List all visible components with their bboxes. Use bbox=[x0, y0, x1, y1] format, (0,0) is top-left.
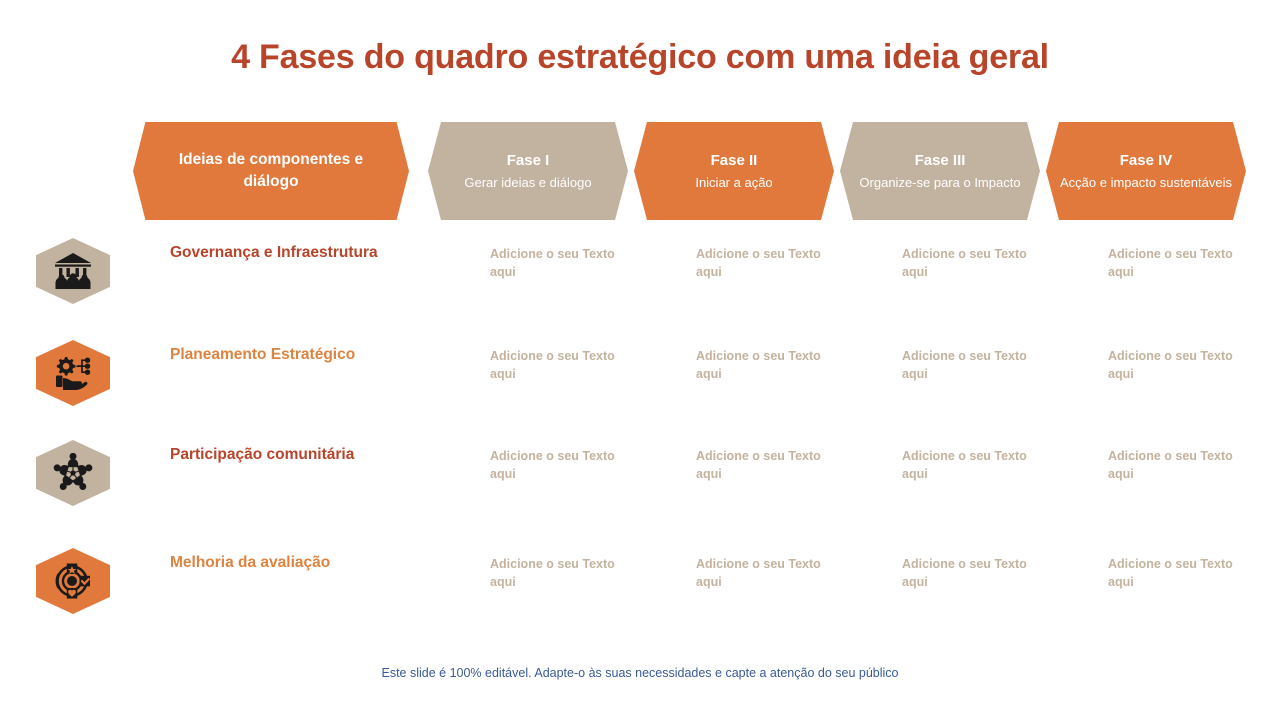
phase-banner-subtitle: Acção e impacto sustentáveis bbox=[1060, 174, 1232, 191]
row-label: Planeamento Estratégico bbox=[170, 343, 430, 367]
cell-placeholder[interactable]: Adicione o seu Texto aqui bbox=[490, 246, 620, 282]
phase-banner-1[interactable]: Fase IGerar ideias e diálogo bbox=[428, 122, 628, 220]
cell-placeholder[interactable]: Adicione o seu Texto aqui bbox=[696, 348, 826, 384]
phase-banner-subtitle: Organize-se para o Impacto bbox=[859, 174, 1020, 191]
cell-placeholder[interactable]: Adicione o seu Texto aqui bbox=[902, 246, 1032, 282]
phase-banner-subtitle: Iniciar a ação bbox=[695, 174, 772, 191]
cell-placeholder[interactable]: Adicione o seu Texto aqui bbox=[696, 556, 826, 592]
matrix-row: Planeamento EstratégicoAdicione o seu Te… bbox=[0, 340, 1280, 440]
evaluation-target-icon bbox=[36, 548, 110, 614]
phase-banner-lead[interactable]: Ideias de componentes e diálogo bbox=[133, 122, 409, 220]
cell-placeholder[interactable]: Adicione o seu Texto aqui bbox=[696, 246, 826, 282]
row-label: Melhoria da avaliação bbox=[170, 551, 430, 575]
cell-placeholder[interactable]: Adicione o seu Texto aqui bbox=[902, 556, 1032, 592]
matrix-row: Participação comunitáriaAdicione o seu T… bbox=[0, 440, 1280, 540]
row-label: Governança e Infraestrutura bbox=[170, 241, 430, 265]
community-people-circle-icon bbox=[36, 440, 110, 506]
cell-placeholder[interactable]: Adicione o seu Texto aqui bbox=[902, 448, 1032, 484]
cell-placeholder[interactable]: Adicione o seu Texto aqui bbox=[490, 348, 620, 384]
phase-banner-title: Fase IV bbox=[1120, 151, 1173, 171]
phase-banner-row: Ideias de componentes e diálogoFase IGer… bbox=[0, 122, 1280, 220]
cell-placeholder[interactable]: Adicione o seu Texto aqui bbox=[1108, 556, 1238, 592]
hand-gear-network-icon bbox=[36, 340, 110, 406]
phase-banner-3[interactable]: Fase IIIOrganize-se para o Impacto bbox=[840, 122, 1040, 220]
cell-placeholder[interactable]: Adicione o seu Texto aqui bbox=[1108, 348, 1238, 384]
cell-placeholder[interactable]: Adicione o seu Texto aqui bbox=[696, 448, 826, 484]
phase-banner-4[interactable]: Fase IVAcção e impacto sustentáveis bbox=[1046, 122, 1246, 220]
phase-banner-subtitle: Gerar ideias e diálogo bbox=[464, 174, 591, 191]
bank-people-icon bbox=[36, 238, 110, 304]
cell-placeholder[interactable]: Adicione o seu Texto aqui bbox=[1108, 246, 1238, 282]
matrix-row: Melhoria da avaliaçãoAdicione o seu Text… bbox=[0, 548, 1280, 648]
phase-banner-title: Fase III bbox=[915, 151, 966, 171]
cell-placeholder[interactable]: Adicione o seu Texto aqui bbox=[1108, 448, 1238, 484]
cell-placeholder[interactable]: Adicione o seu Texto aqui bbox=[902, 348, 1032, 384]
phase-banner-title: Fase II bbox=[711, 151, 758, 171]
cell-placeholder[interactable]: Adicione o seu Texto aqui bbox=[490, 556, 620, 592]
row-label: Participação comunitária bbox=[170, 443, 430, 467]
matrix-row: Governança e InfraestruturaAdicione o se… bbox=[0, 238, 1280, 338]
footer-note: Este slide é 100% editável. Adapte-o às … bbox=[0, 666, 1280, 680]
phase-banner-title: Ideias de componentes e diálogo bbox=[133, 149, 409, 194]
phase-banner-2[interactable]: Fase IIIniciar a ação bbox=[634, 122, 834, 220]
slide-title: 4 Fases do quadro estratégico com uma id… bbox=[0, 38, 1280, 77]
cell-placeholder[interactable]: Adicione o seu Texto aqui bbox=[490, 448, 620, 484]
phase-banner-title: Fase I bbox=[507, 151, 550, 171]
